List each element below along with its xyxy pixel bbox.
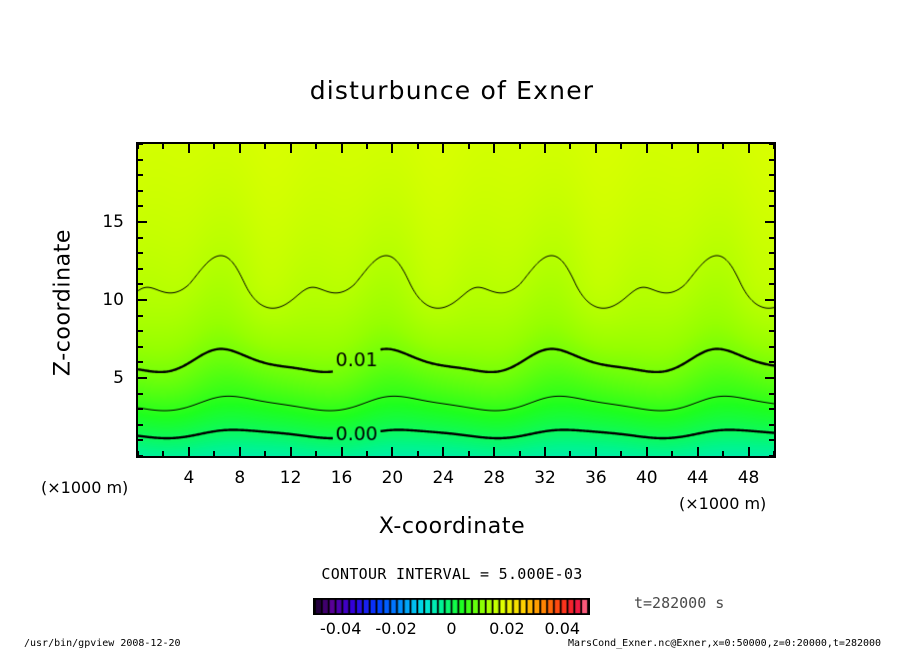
x-tick-label: 44 xyxy=(678,468,718,488)
x-axis-title: X-coordinate xyxy=(0,514,904,539)
x-tick-label: 12 xyxy=(271,468,311,488)
colorbar-tick-label: -0.02 xyxy=(366,619,426,638)
x-tick-label: 20 xyxy=(372,468,412,488)
colorbar-tick-label: -0.04 xyxy=(311,619,371,638)
colorbar-canvas xyxy=(313,598,590,615)
contour-plot-canvas xyxy=(138,144,774,456)
page-title: disturbunce of Exner xyxy=(0,76,904,105)
x-units-left-annotation: (×1000 m) xyxy=(41,478,128,497)
x-tick-label: 40 xyxy=(627,468,667,488)
x-tick-label: 24 xyxy=(423,468,463,488)
footer-dataset-info: MarsCond_Exner.nc@Exner,x=0:50000,z=0:20… xyxy=(568,638,881,649)
colorbar-tick-label: 0 xyxy=(422,619,482,638)
y-tick-label: 15 xyxy=(84,212,124,232)
plot-area xyxy=(136,142,776,458)
colorbar-tick-label: 0.04 xyxy=(532,619,592,638)
colorbar-tick-label: 0.02 xyxy=(477,619,537,638)
footer-command-date: /usr/bin/gpview 2008-12-20 xyxy=(24,638,181,649)
y-axis-title: Z-coordinate xyxy=(51,193,76,413)
time-label: t=282000 s xyxy=(634,594,724,612)
contour-interval-caption: CONTOUR INTERVAL = 5.000E-03 xyxy=(0,565,904,583)
x-tick-label: 4 xyxy=(169,468,209,488)
x-tick-label: 16 xyxy=(322,468,362,488)
x-units-right-annotation: (×1000 m) xyxy=(679,494,766,513)
x-tick-label: 8 xyxy=(220,468,260,488)
y-tick-label: 5 xyxy=(84,368,124,388)
x-tick-label: 48 xyxy=(729,468,769,488)
colorbar xyxy=(313,598,590,615)
y-tick-label: 10 xyxy=(84,290,124,310)
x-tick-label: 32 xyxy=(525,468,565,488)
x-tick-label: 36 xyxy=(576,468,616,488)
x-tick-label: 28 xyxy=(474,468,514,488)
